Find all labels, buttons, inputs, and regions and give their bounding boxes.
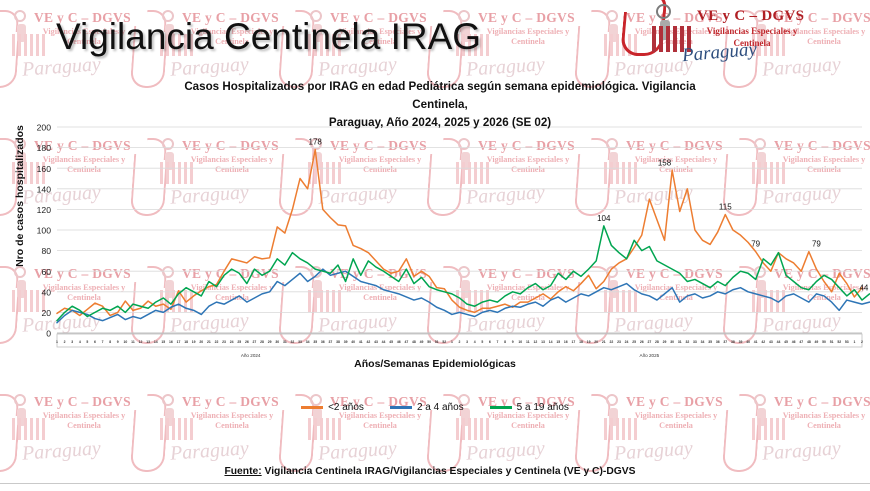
watermark-subtitle: Vigilancias Especiales yCentinela <box>478 27 578 48</box>
series-line <box>57 150 862 316</box>
x-tick-label: 23 <box>617 340 621 344</box>
footer-source-prefix: Fuente: <box>224 466 261 477</box>
x-tick-label: 35 <box>313 340 317 344</box>
series-line <box>57 269 870 323</box>
x-tick-label: 29 <box>268 340 272 344</box>
x-tick-label: 1 <box>853 340 855 344</box>
x-tick-label: 36 <box>321 340 325 344</box>
watermark-building-icon <box>456 418 490 440</box>
data-point-label: 104 <box>597 214 611 223</box>
x-tick-label: 18 <box>184 340 188 344</box>
watermark-subtitle: Vigilancias Especiales yCentinela <box>626 411 726 432</box>
x-tick-label: 7 <box>497 340 499 344</box>
x-tick-label: 4 <box>79 340 81 344</box>
x-tick-label: 32 <box>685 340 689 344</box>
x-tick-label: 14 <box>549 340 553 344</box>
x-tick-label: 26 <box>640 340 644 344</box>
watermark-country: Paraguay <box>465 437 545 465</box>
watermark-subtitle: Vigilancias Especiales yCentinela <box>774 411 870 432</box>
watermark-hook-icon <box>722 410 760 472</box>
x-tick-label: 26 <box>245 340 249 344</box>
x-tick-label: 11 <box>131 340 135 344</box>
watermark-tile: VE y C – DGVSVigilancias Especiales yCen… <box>278 0 426 4</box>
watermark-person-icon <box>606 10 618 22</box>
x-tick-label: 9 <box>117 340 119 344</box>
data-point-label: 115 <box>719 203 732 212</box>
chart-legend: <2 años2 a 4 años5 a 19 años <box>0 402 870 413</box>
x-tick-label: 31 <box>283 340 287 344</box>
data-point-label: 178 <box>309 138 323 147</box>
x-tick-label: 5 <box>86 340 88 344</box>
x-tick-label: 10 <box>123 340 127 344</box>
y-tick-label: 200 <box>37 123 52 133</box>
watermark-building-icon <box>12 418 46 440</box>
page-title: Vigilancia Centinela IRAG <box>56 16 481 58</box>
x-tick-label: 37 <box>723 340 727 344</box>
x-tick-label: 43 <box>769 340 773 344</box>
watermark-building-icon <box>12 34 46 56</box>
x-tick-label: 28 <box>655 340 659 344</box>
x-tick-label: 41 <box>754 340 758 344</box>
x-tick-label: 8 <box>109 340 111 344</box>
x-tick-label: 45 <box>389 340 393 344</box>
x-tick-label: 1 <box>56 340 58 344</box>
x-tick-label: 2 <box>64 340 66 344</box>
watermark-subtitle: Vigilancias Especiales yCentinela <box>330 411 430 432</box>
y-tick-label: 180 <box>37 143 52 153</box>
watermark-hook-icon <box>130 410 168 472</box>
x-tick-label: 37 <box>329 340 333 344</box>
data-point-label: 79 <box>812 240 821 249</box>
x-tick-label: 46 <box>792 340 796 344</box>
x-tick-label: 43 <box>374 340 378 344</box>
legend-color-swatch <box>490 406 512 409</box>
x-tick-label: 53 <box>845 340 849 344</box>
x-tick-label: 19 <box>587 340 591 344</box>
x-tick-label: 2 <box>459 340 461 344</box>
x-tick-label: 11 <box>526 340 530 344</box>
legend-item[interactable]: <2 años <box>301 402 364 413</box>
x-tick-label: 10 <box>518 340 522 344</box>
watermark-building-icon <box>308 418 342 440</box>
x-tick-label: 51 <box>435 340 439 344</box>
y-tick-label: 80 <box>41 246 51 256</box>
watermark-hook-icon <box>0 26 20 88</box>
watermark-subtitle: Vigilancias Especiales yCentinela <box>34 411 134 432</box>
logo-person-icon <box>656 4 671 19</box>
data-series <box>57 150 870 323</box>
x-axis-ticks: 1234567891011121314151617181920212223242… <box>56 340 863 344</box>
chart-title: Casos Hospitalizados por IRAG en edad Pe… <box>160 78 720 132</box>
logo: VE y C – DGVS Vigilancias Especiales yCe… <box>622 2 822 64</box>
x-tick-label: 52 <box>837 340 841 344</box>
series-line <box>57 226 870 321</box>
y-tick-label: 160 <box>37 164 52 174</box>
data-point-label: 158 <box>658 158 672 167</box>
x-tick-label: 31 <box>678 340 682 344</box>
data-point-label: 79 <box>751 240 760 249</box>
x-tick-label: 40 <box>746 340 750 344</box>
x-tick-label: 22 <box>215 340 219 344</box>
x-tick-label: 13 <box>541 340 545 344</box>
legend-item[interactable]: 2 a 4 años <box>390 402 464 413</box>
watermark-building-icon <box>752 418 786 440</box>
x-tick-label: 44 <box>382 340 386 344</box>
watermark-title: VE y C – DGVS <box>478 10 575 26</box>
x-tick-label: 22 <box>609 340 613 344</box>
watermark-country: Paraguay <box>761 437 841 465</box>
x-tick-label: 51 <box>830 340 834 344</box>
legend-color-swatch <box>301 406 323 409</box>
x-tick-label: 28 <box>260 340 264 344</box>
y-axis-label: Nro de casos hospitalizados <box>14 96 26 296</box>
x-tick-label: 29 <box>663 340 667 344</box>
x-tick-label: 27 <box>253 340 257 344</box>
x-tick-label: 42 <box>366 340 370 344</box>
x-tick-label: 1 <box>451 340 453 344</box>
x-tick-label: 21 <box>602 340 606 344</box>
watermark-tile: VE y C – DGVSVigilancias Especiales yCen… <box>130 0 278 4</box>
x-tick-label: 3 <box>71 340 73 344</box>
y-tick-label: 140 <box>37 184 52 194</box>
x-tick-label: 30 <box>275 340 279 344</box>
x-tick-label: 25 <box>237 340 241 344</box>
x-tick-label: 40 <box>351 340 355 344</box>
x-tick-label: 35 <box>708 340 712 344</box>
y-tick-label: 120 <box>37 205 52 215</box>
y-tick-label: 40 <box>41 287 51 297</box>
x-tick-label: 15 <box>161 340 165 344</box>
x-tick-label: 49 <box>815 340 819 344</box>
chart-plot-area: 020406080100120140160180200 123456789101… <box>0 118 870 378</box>
x-tick-label: 33 <box>298 340 302 344</box>
legend-item[interactable]: 5 a 19 años <box>490 402 569 413</box>
watermark-subtitle: Vigilancias Especiales yCentinela <box>478 411 578 432</box>
watermark-tile: VE y C – DGVSVigilancias Especiales yCen… <box>0 0 130 4</box>
watermark-country: Paraguay <box>613 437 693 465</box>
y-tick-label: 100 <box>37 226 52 236</box>
logo-title: VE y C – DGVS <box>697 8 804 25</box>
watermark-building-icon <box>160 418 194 440</box>
x-tick-label: 33 <box>693 340 697 344</box>
x-axis-label: Años/Semanas Epidemiológicas <box>0 358 870 370</box>
watermark-country: Paraguay <box>169 437 249 465</box>
watermark-hook-icon <box>278 410 316 472</box>
x-tick-label: 6 <box>94 340 96 344</box>
x-tick-label: 6 <box>489 340 491 344</box>
x-tick-label: 27 <box>647 340 651 344</box>
x-tick-label: 50 <box>427 340 431 344</box>
watermark-tile: VE y C – DGVSVigilancias Especiales yCen… <box>426 0 574 4</box>
x-tick-label: 25 <box>632 340 636 344</box>
chart-title-line1: Casos Hospitalizados por IRAG en edad Pe… <box>160 78 720 114</box>
x-tick-label: 34 <box>701 340 705 344</box>
x-tick-label: 52 <box>442 340 446 344</box>
chart-title-line2: Paraguay, Año 2024, 2025 y 2026 (SE 02) <box>160 114 720 132</box>
x-tick-label: 39 <box>739 340 743 344</box>
x-tick-label: 7 <box>102 340 104 344</box>
watermark-hook-icon <box>0 410 20 472</box>
x-tick-label: 47 <box>404 340 408 344</box>
x-tick-label: 24 <box>230 340 234 344</box>
x-tick-label: 39 <box>344 340 348 344</box>
x-tick-label: 23 <box>222 340 226 344</box>
x-tick-label: 17 <box>572 340 576 344</box>
x-tick-label: 5 <box>481 340 483 344</box>
x-tick-label: 41 <box>359 340 363 344</box>
legend-label: 5 a 19 años <box>517 402 569 413</box>
x-tick-label: 34 <box>306 340 310 344</box>
x-tick-label: 13 <box>146 340 150 344</box>
x-tick-label: 15 <box>556 340 560 344</box>
x-tick-label: 44 <box>777 340 781 344</box>
line-chart: 020406080100120140160180200 123456789101… <box>0 118 870 378</box>
x-tick-label: 38 <box>336 340 340 344</box>
x-tick-label: 12 <box>139 340 143 344</box>
watermark-hook-icon <box>426 410 464 472</box>
y-tick-label: 20 <box>41 308 51 318</box>
x-tick-label: 4 <box>474 340 476 344</box>
x-tick-label: 16 <box>564 340 568 344</box>
watermark-country: Paraguay <box>21 437 101 465</box>
x-tick-label: 46 <box>397 340 401 344</box>
grid-lines <box>57 127 862 333</box>
y-axis-ticks: 020406080100120140160180200 <box>37 123 52 339</box>
x-tick-label: 21 <box>207 340 211 344</box>
x-tick-label: 48 <box>807 340 811 344</box>
legend-label: <2 años <box>328 402 364 413</box>
x-tick-label: 9 <box>512 340 514 344</box>
watermark-person-icon <box>14 10 26 22</box>
y-tick-label: 0 <box>46 329 51 339</box>
watermark-building-icon <box>604 418 638 440</box>
x-tick-label: 45 <box>784 340 788 344</box>
x-tick-label: 3 <box>466 340 468 344</box>
x-tick-label: 8 <box>504 340 506 344</box>
footer-divider <box>0 483 870 484</box>
x-tick-label: 36 <box>716 340 720 344</box>
legend-color-swatch <box>390 406 412 409</box>
x-tick-label: 42 <box>761 340 765 344</box>
x-tick-label: 20 <box>199 340 203 344</box>
x-tick-label: 32 <box>291 340 295 344</box>
watermark-subtitle: Vigilancias Especiales yCentinela <box>182 411 282 432</box>
x-tick-label: 18 <box>579 340 583 344</box>
x-tick-label: 16 <box>169 340 173 344</box>
y-tick-label: 60 <box>41 267 51 277</box>
footer-source: Fuente: Vigilancia Centinela IRAG/Vigila… <box>0 466 870 477</box>
x-tick-label: 47 <box>799 340 803 344</box>
x-tick-label: 48 <box>412 340 416 344</box>
x-tick-label: 20 <box>594 340 598 344</box>
data-point-label: 44 <box>859 284 868 293</box>
x-tick-label: 17 <box>177 340 181 344</box>
x-tick-label: 49 <box>420 340 424 344</box>
legend-label: 2 a 4 años <box>417 402 464 413</box>
watermark-country: Paraguay <box>317 437 397 465</box>
x-tick-label: 38 <box>731 340 735 344</box>
watermark-hook-icon <box>574 410 612 472</box>
x-tick-label: 12 <box>534 340 538 344</box>
x-tick-label: 19 <box>192 340 196 344</box>
footer-source-text: Vigilancia Centinela IRAG/Vigilancias Es… <box>262 466 636 477</box>
x-tick-label: 50 <box>822 340 826 344</box>
x-tick-label: 14 <box>154 340 158 344</box>
x-tick-label: 2 <box>861 340 863 344</box>
x-tick-label: 30 <box>670 340 674 344</box>
x-tick-label: 24 <box>625 340 629 344</box>
